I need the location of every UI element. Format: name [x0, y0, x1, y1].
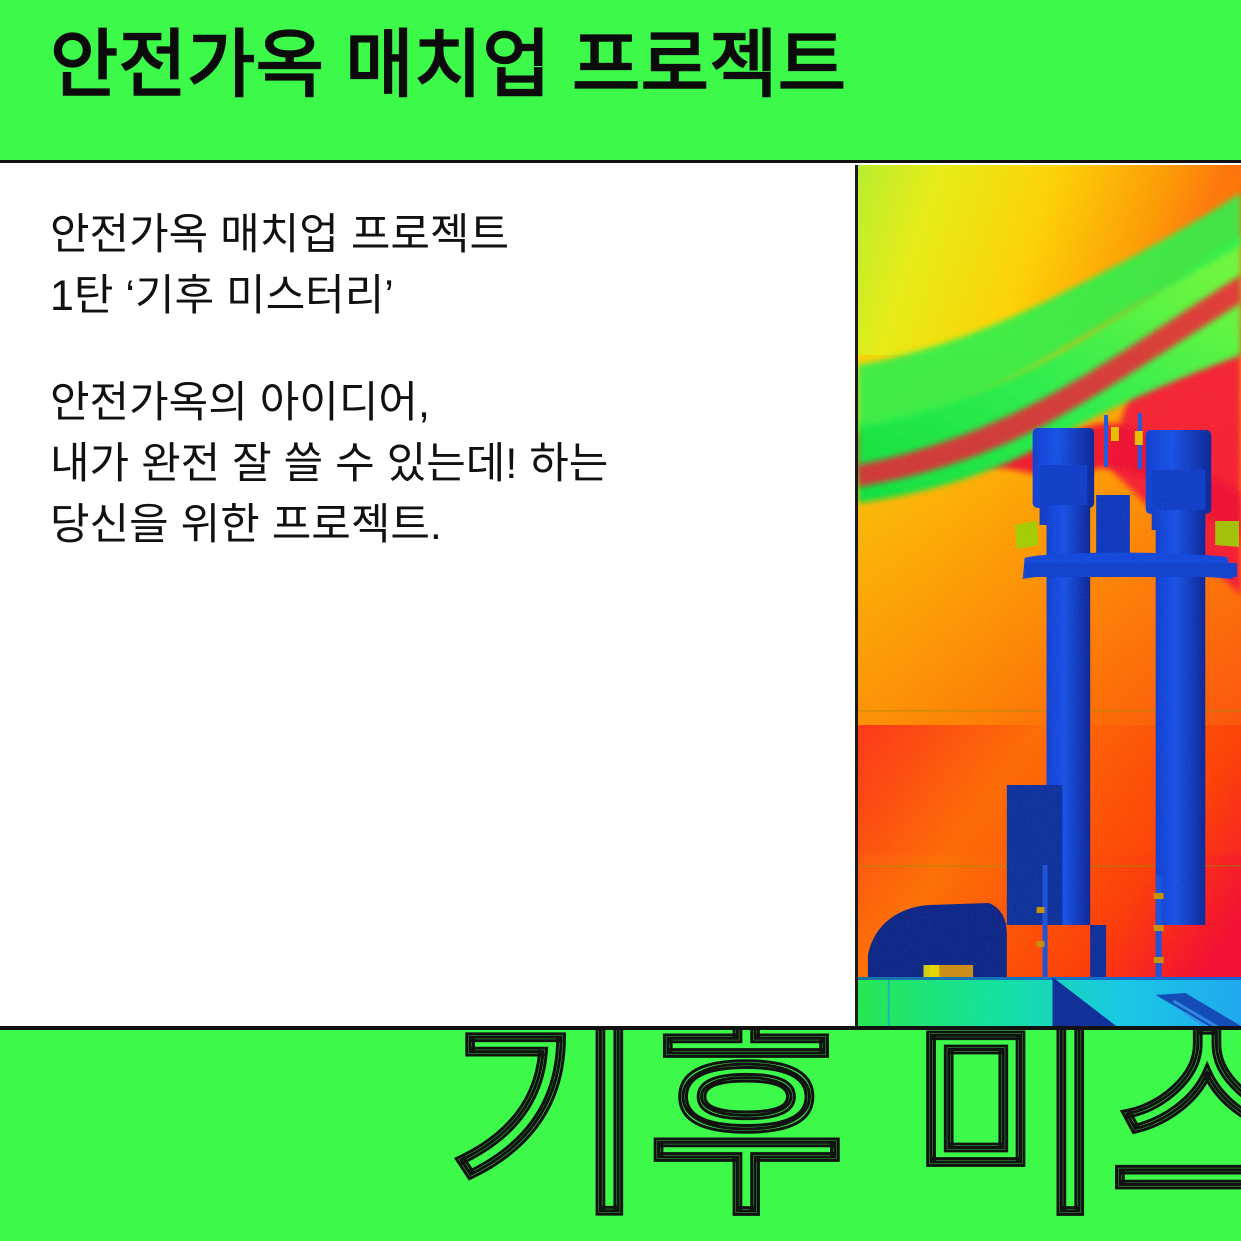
body-line: 안전가옥의 아이디어,: [50, 373, 810, 434]
body-line: 당신을 위한 프로젝트.: [50, 495, 810, 556]
body-line: 내가 완전 잘 쓸 수 있는데! 하는: [50, 434, 810, 495]
body-copy: 안전가옥 매치업 프로젝트 1탄 ‘기후 미스터리’ 안전가옥의 아이디어, 내…: [50, 205, 810, 556]
body-block-pitch: 안전가옥의 아이디어, 내가 완전 잘 쓸 수 있는데! 하는 당신을 위한 프…: [50, 373, 810, 556]
footer-band: 기후 미스터리: [0, 1026, 1241, 1241]
thermal-photo-frame: [855, 165, 1241, 1026]
body-line: 안전가옥 매치업 프로젝트: [50, 205, 810, 266]
page-title: 안전가옥 매치업 프로젝트: [50, 28, 847, 102]
header-band: 안전가옥 매치업 프로젝트: [0, 0, 1241, 163]
body-line: 1탄 ‘기후 미스터리’: [50, 266, 810, 327]
body-block-project: 안전가옥 매치업 프로젝트 1탄 ‘기후 미스터리’: [50, 205, 810, 327]
poster-canvas: 안전가옥 매치업 프로젝트 안전가옥 매치업 프로젝트 1탄 ‘기후 미스터리’…: [0, 0, 1241, 1241]
thermal-infrared-power-plant-image: [858, 165, 1241, 1026]
footer-outline-title: 기후 미스터리: [448, 1026, 1241, 1227]
